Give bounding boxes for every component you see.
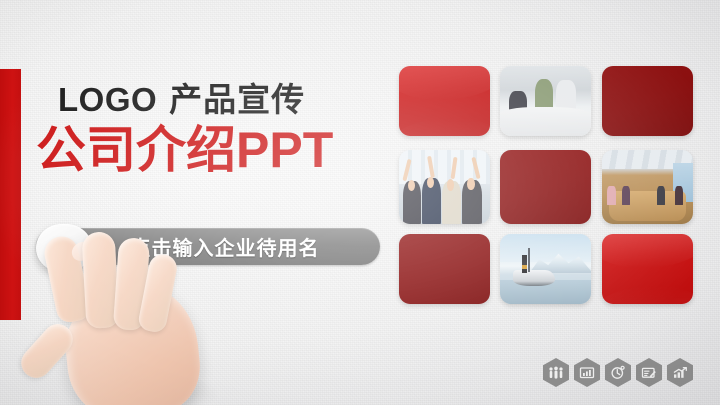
computer-mouse-icon (36, 224, 92, 272)
bar-chart-board-icon[interactable] (574, 358, 600, 387)
logo-text: LOGO (58, 81, 157, 118)
team-people-icon[interactable] (543, 358, 569, 387)
team-meeting-photo (500, 66, 591, 136)
target-clock-icon[interactable] (605, 358, 631, 387)
sign-document-icon[interactable] (636, 358, 662, 387)
headline-block: LOGO产品宣传 公司介绍PPT (58, 82, 403, 177)
tagline-text: 产品宣传 (169, 81, 305, 118)
hand-shadow (70, 372, 220, 405)
dark-red-tile (500, 150, 591, 224)
red-gloss-tile (399, 66, 490, 136)
logo-line: LOGO产品宣传 (58, 82, 403, 118)
cheering-team-photo (399, 150, 490, 224)
palm (60, 277, 205, 405)
dark-red-tile (602, 66, 693, 136)
growth-chart-icon[interactable] (667, 358, 693, 387)
conference-room-photo (602, 150, 693, 224)
presentation-title-slide: LOGO产品宣传 公司介绍PPT 点击输入企业待用名 (0, 0, 720, 405)
red-gloss-tile (602, 234, 693, 304)
photo-grid (399, 66, 699, 304)
left-accent-bar (0, 69, 21, 320)
steamship-mountains-photo (500, 234, 591, 304)
icon-row (543, 358, 693, 387)
dark-red-tile (399, 234, 490, 304)
thumb (15, 318, 79, 384)
page-title: 公司介绍PPT (36, 124, 403, 177)
